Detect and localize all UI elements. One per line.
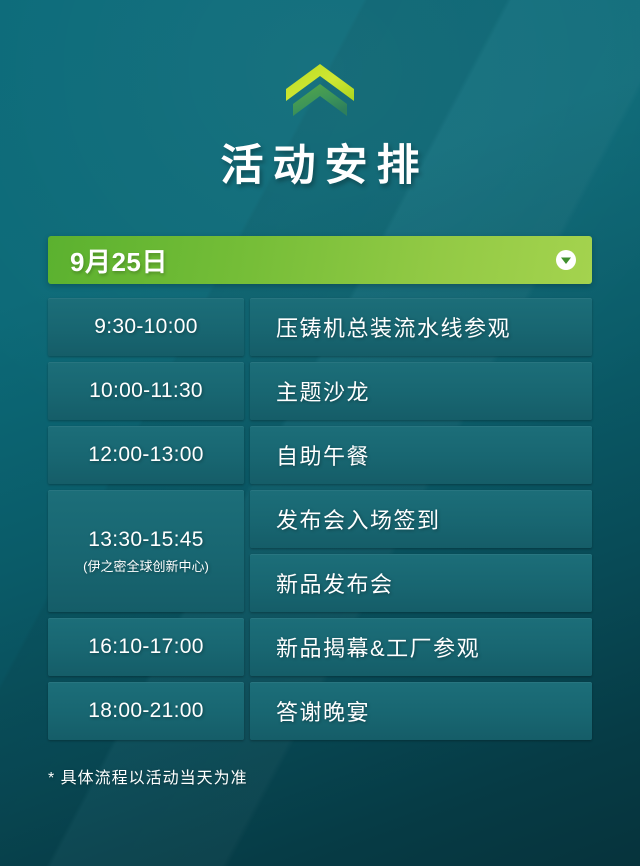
list-item: 新品发布会 <box>250 554 592 612</box>
list-item: 新品揭幕&工厂参观 <box>250 618 592 676</box>
time-text: 12:00-13:00 <box>88 443 203 467</box>
chevron-down-circle-icon[interactable] <box>554 248 578 272</box>
list-item: 主题沙龙 <box>250 362 592 420</box>
double-chevron-logo-icon <box>285 62 355 118</box>
time-text: 16:10-17:00 <box>88 635 203 659</box>
list-item: 答谢晚宴 <box>250 682 592 740</box>
list-item: 自助午餐 <box>250 426 592 484</box>
table-row: 12:00-13:00 <box>48 426 244 484</box>
table-row: 16:10-17:00 <box>48 618 244 676</box>
footnote-text: * 具体流程以活动当天为准 <box>48 764 592 788</box>
time-text: 13:30-15:45 <box>88 528 203 552</box>
event-schedule-poster: 活动安排 9月25日 9:30-10:00 10:00-11:30 12:0 <box>0 0 640 866</box>
table-row: 18:00-21:00 <box>48 682 244 740</box>
list-item: 压铸机总装流水线参观 <box>250 298 592 356</box>
table-row: 10:00-11:30 <box>48 362 244 420</box>
table-row: 9:30-10:00 <box>48 298 244 356</box>
schedule-time-column: 9:30-10:00 10:00-11:30 12:00-13:00 13:30… <box>48 298 244 740</box>
poster-content: 活动安排 9月25日 9:30-10:00 10:00-11:30 12:0 <box>0 0 640 866</box>
time-text: 10:00-11:30 <box>89 379 203 403</box>
time-text: 18:00-21:00 <box>88 699 203 723</box>
time-text: 9:30-10:00 <box>94 315 197 339</box>
date-label: 9月25日 <box>70 242 168 279</box>
list-item: 发布会入场签到 <box>250 490 592 548</box>
time-location-note: (伊之密全球创新中心) <box>83 556 209 575</box>
page-title: 活动安排 <box>48 118 592 190</box>
table-row: 13:30-15:45 (伊之密全球创新中心) <box>48 490 244 612</box>
schedule-table: 9:30-10:00 10:00-11:30 12:00-13:00 13:30… <box>48 298 592 740</box>
logo-container <box>48 0 592 118</box>
date-header-bar[interactable]: 9月25日 <box>48 236 592 284</box>
schedule-event-column: 压铸机总装流水线参观 主题沙龙 自助午餐 发布会入场签到 新品发布会 新品揭幕&… <box>250 298 592 740</box>
